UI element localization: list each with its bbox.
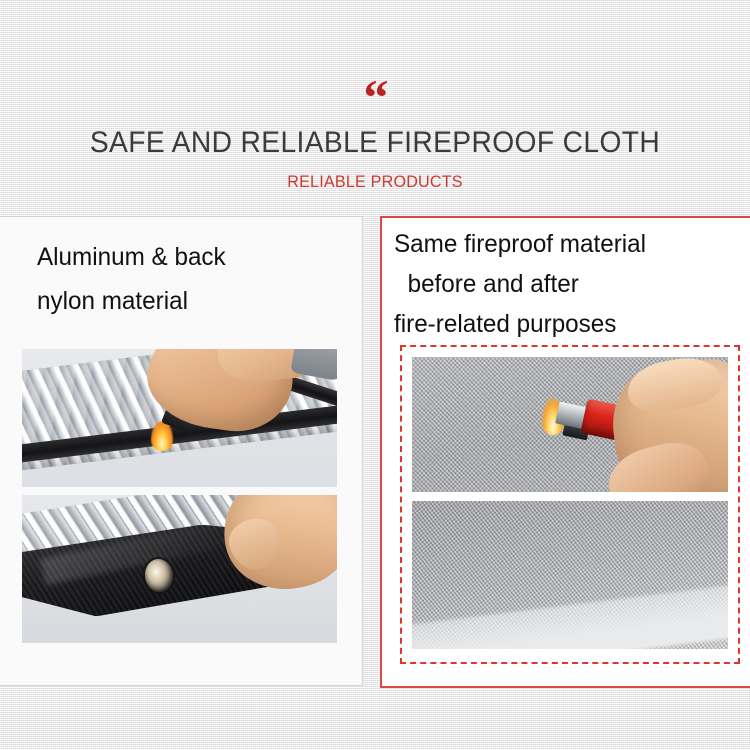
photo-black-nylon-backing-with-grommet bbox=[22, 495, 337, 643]
dashed-highlight-box bbox=[400, 345, 740, 664]
photo-gray-fabric-closeup bbox=[412, 501, 728, 649]
right-panel-heading: Same fireproof material before and after… bbox=[394, 224, 750, 344]
left-feature-panel: Aluminum & back nylon material bbox=[0, 216, 363, 686]
nylon-backing-artwork bbox=[22, 495, 337, 643]
photo-aluminum-foil-side-with-lighter bbox=[22, 349, 337, 487]
left-panel-heading: Aluminum & back nylon material bbox=[37, 235, 338, 323]
right-heading-line-1: Same fireproof material bbox=[394, 224, 750, 264]
left-heading-line-1: Aluminum & back bbox=[37, 235, 338, 279]
flame-test-artwork bbox=[412, 357, 728, 492]
right-heading-line-3: fire-related purposes bbox=[394, 304, 750, 344]
page-subtitle: RELIABLE PRODUCTS bbox=[19, 172, 732, 192]
photo-gray-fabric-flame-test bbox=[412, 357, 728, 492]
page-title: SAFE AND RELIABLE FIREPROOF CLOTH bbox=[23, 126, 728, 160]
aluminum-foil-artwork bbox=[22, 349, 337, 487]
product-infographic-page: “ SAFE AND RELIABLE FIREPROOF CLOTH RELI… bbox=[0, 0, 750, 750]
fabric-closeup-artwork bbox=[412, 501, 728, 649]
right-feature-panel: Same fireproof material before and after… bbox=[380, 216, 750, 688]
quote-mark-icon: “ bbox=[0, 72, 750, 122]
left-heading-line-2: nylon material bbox=[37, 279, 338, 323]
right-heading-line-2: before and after bbox=[394, 264, 750, 304]
